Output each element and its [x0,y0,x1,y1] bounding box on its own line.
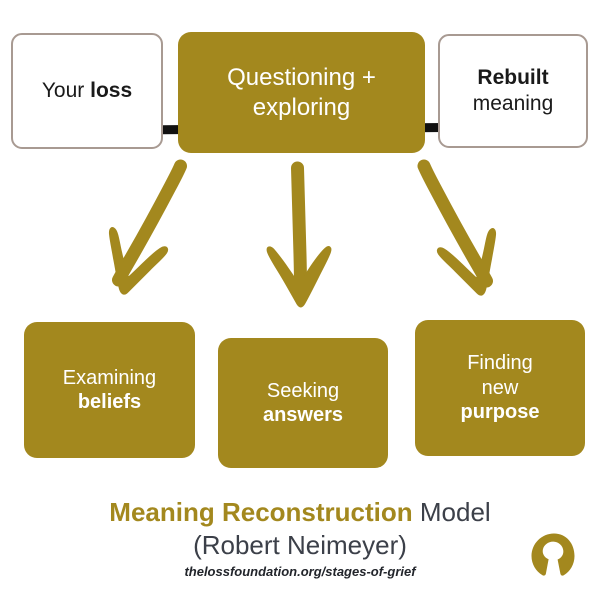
diagram-canvas: Your loss Questioning + exploring Rebuil… [0,0,600,600]
loss-foundation-logo-icon [530,532,578,580]
node-questioning-line-2: exploring [253,93,350,122]
node-finding-new-purpose: Finding new purpose [415,320,585,456]
node-finding-line-2: new [482,376,519,400]
caption-author: (Robert Neimeyer) [0,529,600,562]
node-your-loss: Your loss [11,33,163,149]
node-examining-line-2: beliefs [78,390,141,414]
node-seeking-line-2: answers [263,403,343,427]
caption-title-highlight: Meaning Reconstruction [109,497,412,527]
caption-title-rest: Model [413,497,491,527]
node-examining-line-1: Examining [63,366,156,390]
node-finding-line-1: Finding [467,351,533,375]
node-rebuilt-line-1: Rebuilt [477,65,548,91]
node-seeking-line-1: Seeking [267,379,339,403]
caption-title: Meaning Reconstruction Model [0,496,600,529]
arrow-questioning-to-finding-icon [424,166,496,295]
node-rebuilt-line-2: meaning [473,91,554,117]
caption-block: Meaning Reconstruction Model (Robert Nei… [0,496,600,579]
caption-url: thelossfoundation.org/stages-of-grief [0,564,600,579]
node-questioning-exploring: Questioning + exploring [178,32,425,153]
node-your-loss-label: Your loss [42,78,132,104]
node-rebuilt-meaning: Rebuilt meaning [438,34,588,148]
node-questioning-line-1: Questioning + [227,63,376,92]
node-examining-beliefs: Examining beliefs [24,322,195,458]
arrow-questioning-to-examining-icon [109,166,180,294]
arrow-questioning-to-seeking-icon [267,168,331,307]
node-seeking-answers: Seeking answers [218,338,388,468]
node-finding-line-3: purpose [461,400,540,424]
